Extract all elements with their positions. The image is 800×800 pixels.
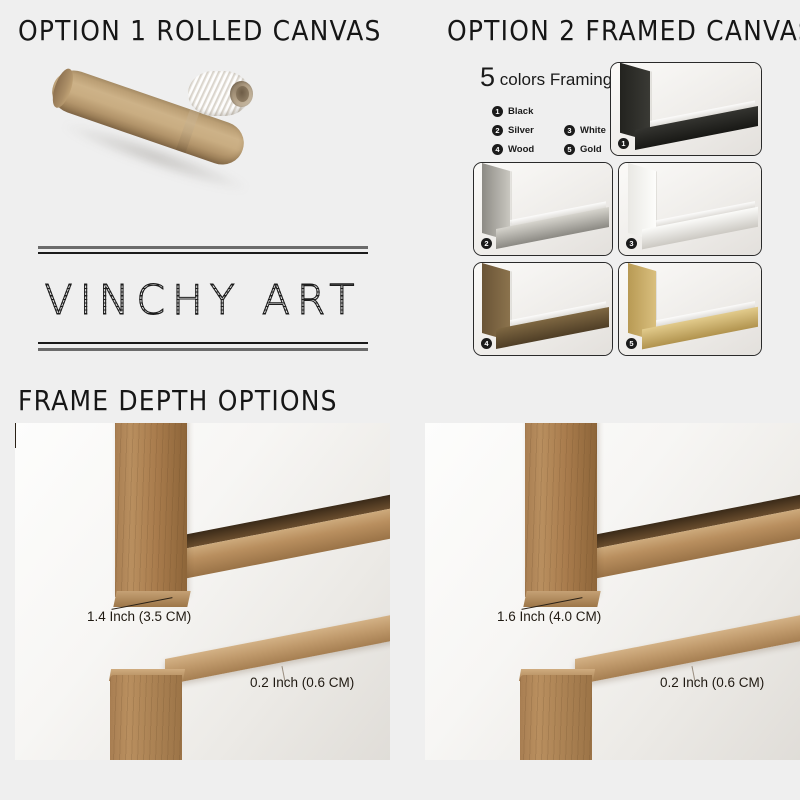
thin-dimension-label: 0.2 Inch (0.6 CM) bbox=[250, 675, 354, 690]
frame-swatch-silver[interactable]: 2 bbox=[473, 162, 613, 256]
frame-swatch-badge-3: 3 bbox=[626, 238, 637, 249]
frame-rail-thin-profile bbox=[575, 608, 800, 685]
logo-rule-bottom-thick bbox=[38, 348, 368, 351]
frame-corner-photo-wood bbox=[474, 263, 612, 355]
frame-rail-vertical-foot bbox=[523, 591, 600, 607]
frame-rail-vertical-deep bbox=[525, 423, 597, 597]
frame-depth-photo-left: 1.4 Inch (3.5 CM) 0.2 Inch (0.6 CM) bbox=[15, 423, 390, 760]
frame-swatch-black[interactable]: 1 bbox=[610, 62, 762, 156]
frame-corner-photo-white bbox=[619, 163, 761, 255]
frame-swatch-badge-4: 4 bbox=[481, 338, 492, 349]
depth-dimension-label: 1.4 Inch (3.5 CM) bbox=[87, 609, 191, 624]
logo-rule-top-thin bbox=[38, 252, 368, 254]
legend-bullet-2: 2 bbox=[492, 125, 503, 136]
rolled-canvas-tube-image bbox=[40, 72, 280, 192]
brand-name: VINCHY ART bbox=[38, 270, 368, 330]
frame-swatch-badge-1: 1 bbox=[618, 138, 629, 149]
legend-label-black: Black bbox=[508, 106, 533, 117]
logo-rule-bottom-thin bbox=[38, 342, 368, 344]
frame-swatch-gold[interactable]: 5 bbox=[618, 262, 762, 356]
legend-item-black: 1 Black bbox=[492, 106, 564, 117]
frame-corner-photo-gold bbox=[619, 263, 761, 355]
legend-item-wood: 4 Wood bbox=[492, 144, 564, 155]
legend-item-silver: 2 Silver bbox=[492, 125, 564, 136]
legend-label-wood: Wood bbox=[508, 144, 534, 155]
legend-bullet-4: 4 bbox=[492, 144, 503, 155]
tube-end-cap bbox=[49, 66, 77, 110]
frame-depth-photo-right: 1.6 Inch (4.0 CM) 0.2 Inch (0.6 CM) bbox=[425, 423, 800, 760]
frame-swatch-wood[interactable]: 4 bbox=[473, 262, 613, 356]
framing-colors-panel: 5 colors Framing 1 Black 2 Silver 3 Whit… bbox=[470, 58, 770, 358]
brand-logo: VINCHY ART bbox=[38, 246, 368, 356]
framing-colors-count: 5 bbox=[480, 62, 495, 92]
frame-corner-photo-black bbox=[611, 63, 761, 155]
frame-swatch-white[interactable]: 3 bbox=[618, 162, 762, 256]
frame-rail-vertical-deep bbox=[115, 423, 187, 597]
option2-heading: OPTION 2 FRAMED CANVAS bbox=[447, 14, 800, 46]
dimension-tick-start bbox=[15, 423, 16, 434]
framing-colors-title: 5 colors Framing bbox=[480, 62, 612, 93]
frame-swatch-badge-2: 2 bbox=[481, 238, 492, 249]
legend-bullet-1: 1 bbox=[492, 106, 503, 117]
framing-colors-label: colors Framing bbox=[495, 70, 612, 89]
frame-rail-vertical-foot bbox=[113, 591, 190, 607]
legend-bullet-3: 3 bbox=[564, 125, 575, 136]
thin-dimension-label: 0.2 Inch (0.6 CM) bbox=[660, 675, 764, 690]
legend-label-gold: Gold bbox=[580, 144, 602, 155]
dimension-tick-end bbox=[15, 434, 16, 448]
frame-corner-photo-silver bbox=[474, 163, 612, 255]
frame-swatch-badge-5: 5 bbox=[626, 338, 637, 349]
legend-label-silver: Silver bbox=[508, 125, 534, 136]
tube-opening-inner bbox=[236, 86, 249, 102]
legend-label-white: White bbox=[580, 125, 606, 136]
legend-bullet-5: 5 bbox=[564, 144, 575, 155]
tube-band bbox=[176, 109, 199, 153]
frame-depth-heading: FRAME DEPTH OPTIONS bbox=[18, 384, 338, 416]
frame-rail-thin-foot bbox=[520, 675, 592, 760]
frame-rail-thin-foot bbox=[110, 675, 182, 760]
depth-dimension-label: 1.6 Inch (4.0 CM) bbox=[497, 609, 601, 624]
frame-rail-thin-profile bbox=[165, 608, 390, 685]
option1-heading: OPTION 1 ROLLED CANVAS bbox=[18, 14, 382, 46]
logo-rule-top-thick bbox=[38, 246, 368, 249]
infographic-canvas: OPTION 1 ROLLED CANVAS VINCHY ART OPTION… bbox=[0, 0, 800, 800]
